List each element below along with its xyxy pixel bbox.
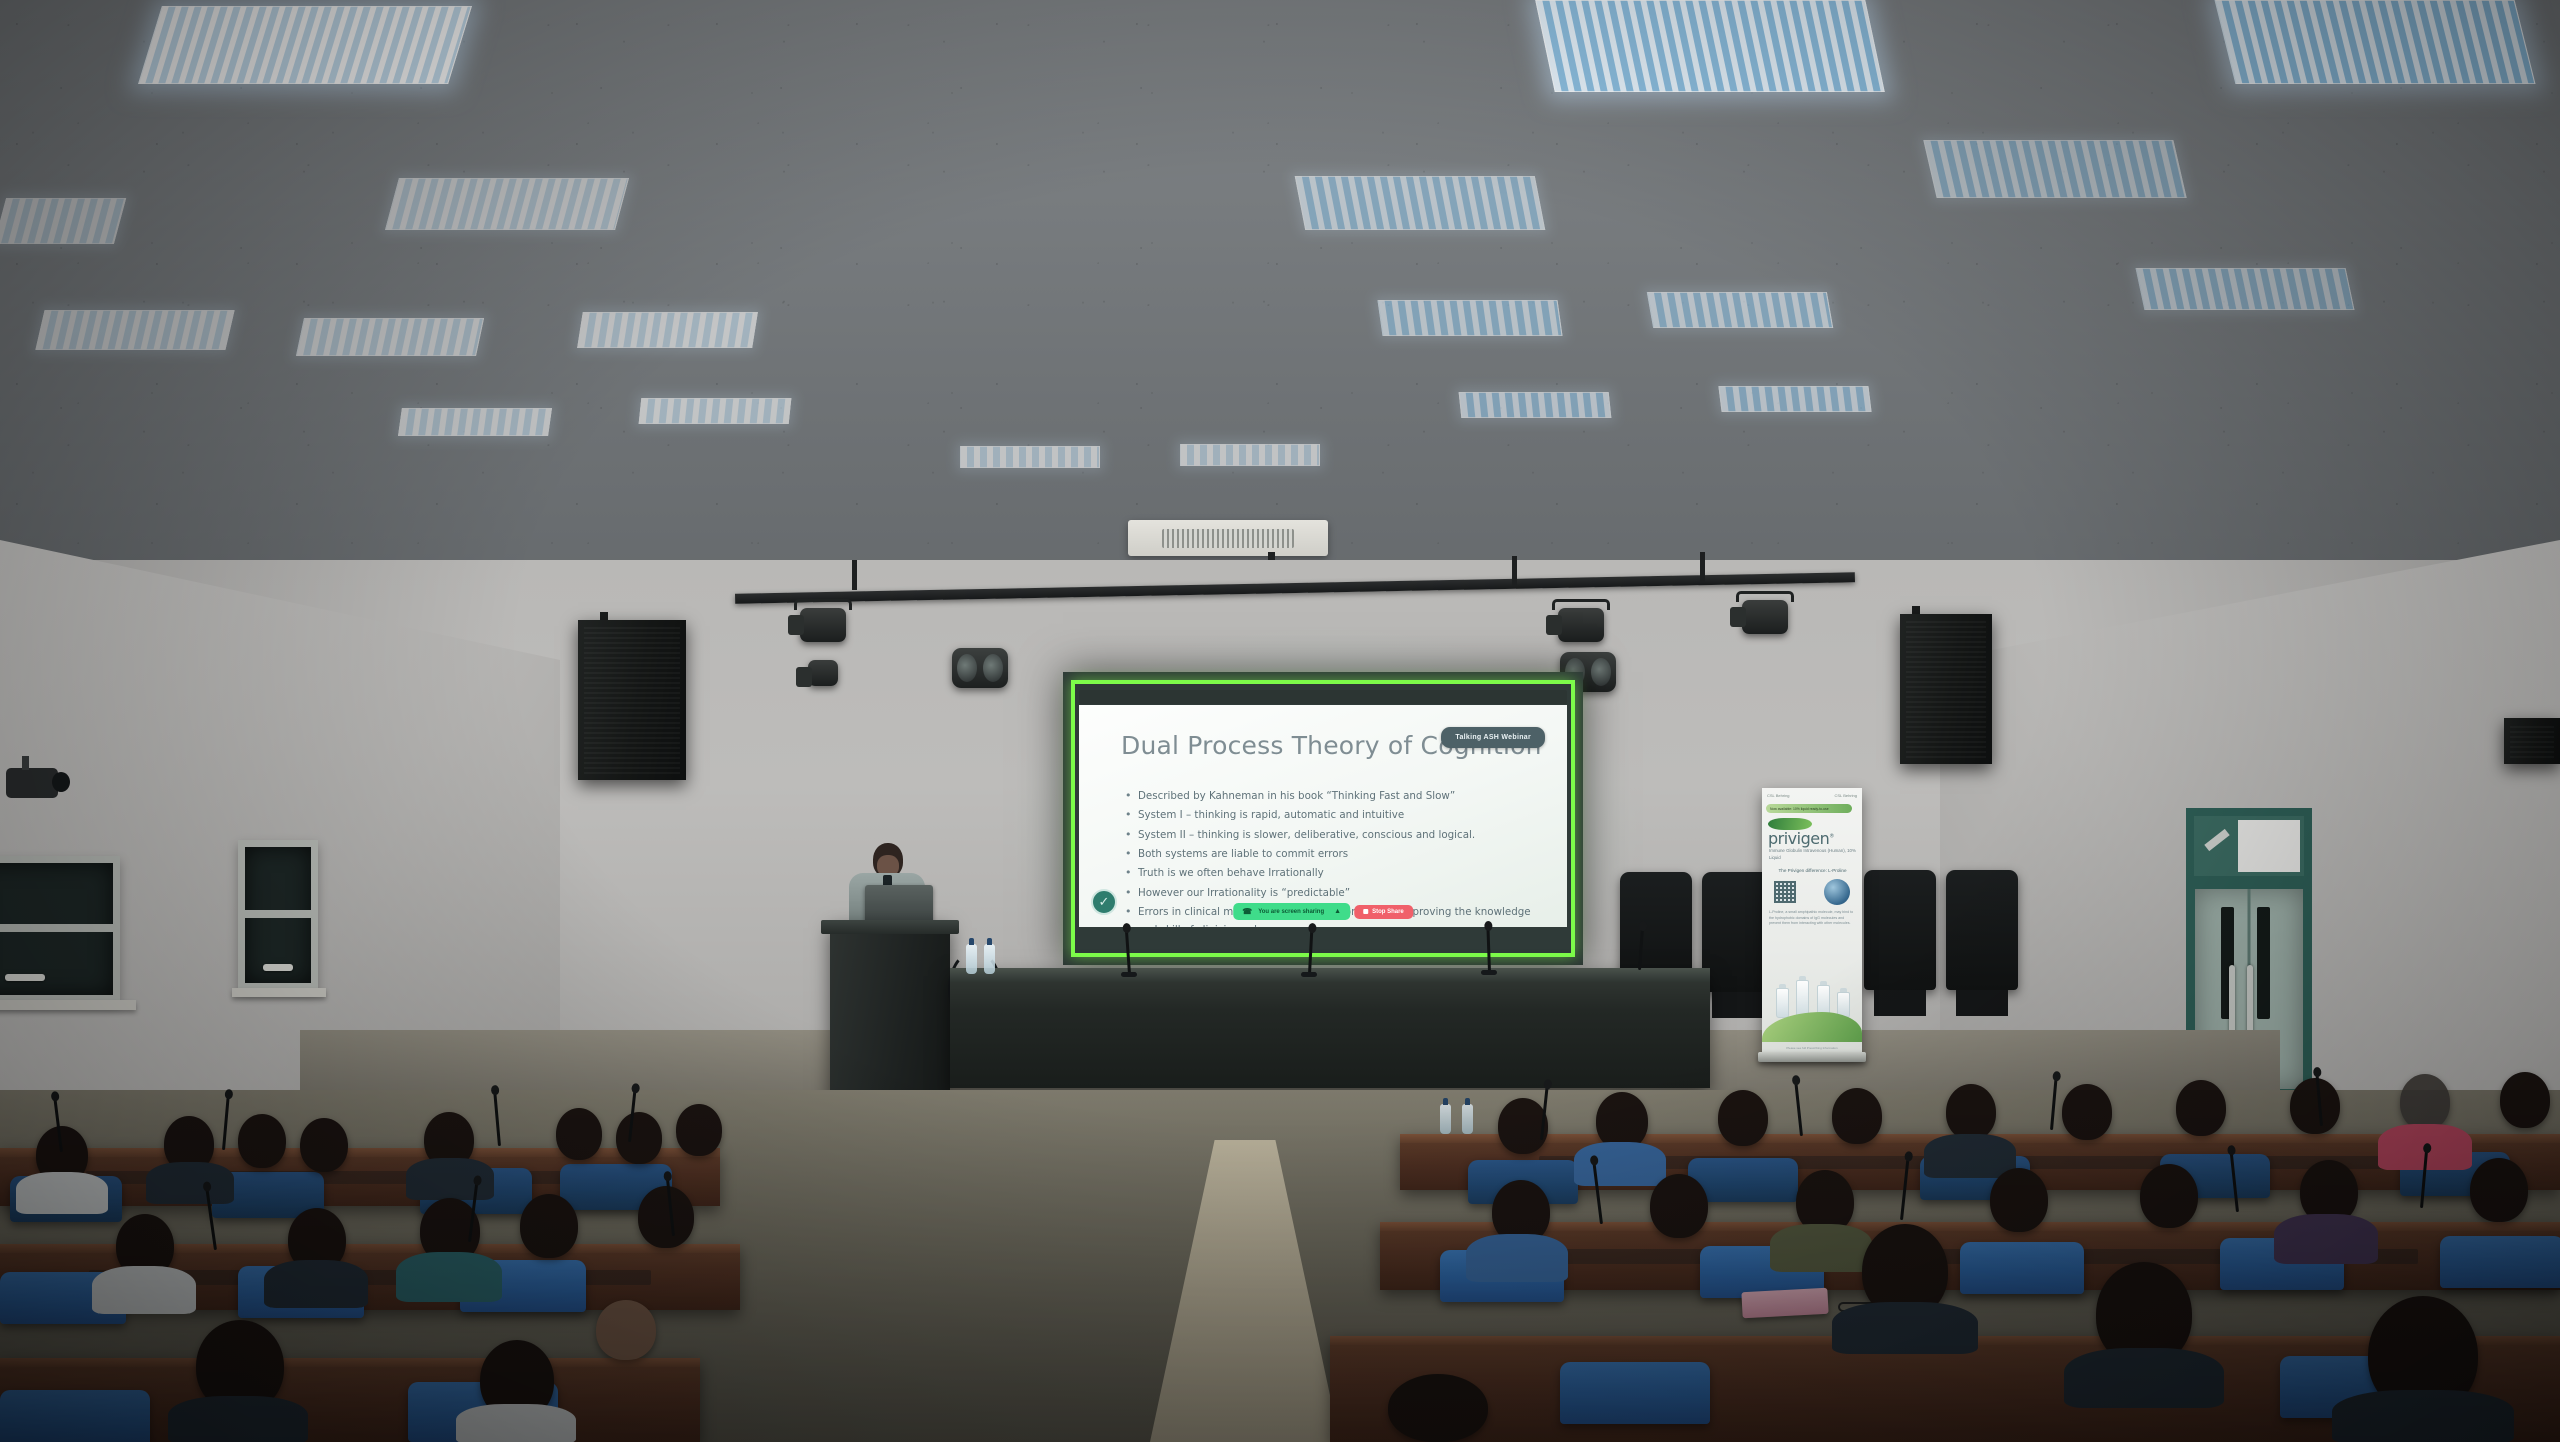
- ceiling-light: [1377, 300, 1562, 336]
- audience-shoulders: [92, 1266, 196, 1314]
- slide-bullet: Described by Kahneman in his book “Think…: [1125, 787, 1533, 805]
- water-bottle: [1440, 1104, 1451, 1134]
- audience-shoulders: [1924, 1134, 2016, 1178]
- banner-body-text: L-Proline, a small amphipathic molecule,…: [1769, 910, 1856, 927]
- window-handle[interactable]: [263, 964, 293, 971]
- audience-shoulders: [264, 1260, 368, 1308]
- ceiling-light: [1180, 444, 1320, 466]
- pink-folder: [1741, 1288, 1828, 1318]
- ceiling-light: [35, 310, 234, 350]
- audience-shoulders: [1466, 1234, 1568, 1282]
- truss-drop-rod: [1700, 552, 1705, 582]
- audience-head: [238, 1114, 286, 1168]
- ceiling-light: [639, 398, 792, 424]
- audience-head: [1946, 1084, 1996, 1140]
- door-vision-slit: [2257, 907, 2270, 1019]
- ceiling-light: [1923, 140, 2186, 198]
- audience-chair: [1560, 1362, 1710, 1424]
- audience-head: [2062, 1084, 2112, 1140]
- transom-pane: [2238, 820, 2300, 872]
- stage-spotlight: [1742, 600, 1788, 634]
- ceiling-light: [1535, 0, 1885, 92]
- slide-bullet: Truth is we often behave Irrationally: [1125, 864, 1533, 882]
- screen-top-bar: [1079, 690, 1567, 704]
- ceiling-light: [0, 198, 126, 244]
- head-table-top: [950, 968, 1710, 982]
- par-lens-icon: [1591, 658, 1611, 686]
- audience-head: [1990, 1168, 2048, 1232]
- audience-head: [2290, 1078, 2340, 1134]
- microphone-base: [1301, 972, 1317, 977]
- product-vial-group: [1772, 970, 1854, 1018]
- audience-chair: [2440, 1236, 2560, 1288]
- ceiling-light: [2136, 268, 2355, 310]
- molecule-sphere-icon: [1824, 879, 1850, 905]
- stop-square-icon: [1363, 909, 1368, 914]
- ceiling-light: [1718, 386, 1871, 412]
- ceiling-light: [296, 318, 484, 356]
- audience-head: [616, 1112, 662, 1164]
- slide-bullet: However our Irrationality is “predictabl…: [1125, 884, 1533, 902]
- sharing-status-button[interactable]: ☎ You are screen sharing ▲: [1233, 903, 1350, 920]
- ceiling-light: [1459, 392, 1612, 418]
- water-bottle: [1462, 1104, 1473, 1134]
- banner-header-right: CSL Behring: [1834, 793, 1857, 798]
- audience-shoulders: [2332, 1390, 2514, 1442]
- stage-spotlight: [800, 608, 846, 642]
- desk-top: [0, 1244, 740, 1253]
- spotlight-yoke: [794, 599, 852, 610]
- audience-head: [676, 1104, 722, 1156]
- ceiling-light: [1295, 176, 1545, 230]
- screen-share-toolbar[interactable]: ☎ You are screen sharing ▲ Stop Share: [1233, 903, 1413, 920]
- audience-shoulders: [456, 1404, 576, 1442]
- circular-logo-icon: ✓: [1091, 889, 1117, 915]
- ceiling-light: [138, 6, 472, 84]
- audience-shoulders: [1770, 1224, 1872, 1272]
- spotlight-yoke: [1736, 591, 1794, 602]
- window: [0, 856, 120, 1002]
- par-lens-icon: [957, 654, 977, 682]
- webinar-badge: Talking ASH Webinar: [1441, 727, 1545, 748]
- window-sill: [0, 1000, 136, 1010]
- ceiling-light: [1647, 292, 1833, 328]
- banner-header-left: CSL Behring: [1767, 793, 1790, 798]
- audience-head: [596, 1300, 656, 1360]
- lecture-hall-photo: Dual Process Theory of Cognition Talking…: [0, 0, 2560, 1442]
- product-vial: [1776, 988, 1789, 1018]
- stage-chair: [1946, 870, 2018, 990]
- pa-speaker-left: [578, 620, 686, 780]
- pa-speaker-right: [1900, 614, 1992, 764]
- truss-drop-rod: [852, 560, 857, 590]
- audience-shoulders: [16, 1172, 108, 1214]
- banner-brand-name: privigen®: [1768, 829, 1834, 848]
- transom-latch-icon[interactable]: [2204, 829, 2229, 851]
- ceiling-light: [2215, 0, 2536, 84]
- pa-speaker-far-right: [2504, 718, 2560, 764]
- audience-head: [556, 1108, 602, 1160]
- lectern-top: [821, 920, 959, 934]
- sponsor-banner: CSL Behring CSL Behring Now available: 1…: [1762, 788, 1862, 1056]
- chevron-up-icon[interactable]: ▲: [1334, 908, 1341, 915]
- desk-top: [1380, 1222, 2560, 1231]
- window-sill: [232, 988, 326, 997]
- ceiling-light: [398, 408, 552, 436]
- stage-spotlight: [1558, 608, 1604, 642]
- ceiling-light: [385, 178, 629, 230]
- window: [238, 840, 318, 990]
- water-bottle: [984, 944, 995, 974]
- audience-head: [2500, 1072, 2550, 1128]
- stage-chair: [1864, 870, 1936, 990]
- audience-shoulders: [2274, 1214, 2378, 1264]
- ceiling-light: [577, 312, 758, 348]
- par-can-light: [952, 648, 1008, 688]
- audience-shoulders: [1574, 1142, 1666, 1186]
- audience-head: [1650, 1174, 1708, 1238]
- phone-icon: ☎: [1242, 907, 1252, 916]
- truss-drop-rod: [1512, 556, 1517, 586]
- banner-header: CSL Behring CSL Behring: [1762, 788, 1862, 802]
- ceiling-ac-cassette: [1128, 520, 1328, 556]
- projection-screen: Dual Process Theory of Cognition Talking…: [1063, 672, 1583, 965]
- window-handle[interactable]: [5, 974, 45, 981]
- head-table: [950, 968, 1710, 1088]
- audience-shoulders: [168, 1396, 308, 1442]
- microphone-base: [1121, 972, 1137, 977]
- banner-subtitle: Immune Globulin Intravenous (Human), 10%…: [1769, 848, 1856, 861]
- stop-share-label: Stop Share: [1372, 909, 1404, 915]
- security-camera-icon: [6, 768, 58, 798]
- slide-bullet: System I – thinking is rapid, automatic …: [1125, 806, 1533, 824]
- slide-bullet: Both systems are liable to commit errors: [1125, 845, 1533, 863]
- sharing-status-label: You are screen sharing: [1258, 909, 1324, 915]
- qr-code-icon: [1774, 881, 1796, 903]
- audience-head: [2400, 1074, 2450, 1130]
- presentation-slide: Dual Process Theory of Cognition Talking…: [1079, 705, 1567, 927]
- audience-chair: [1960, 1242, 2084, 1294]
- door-transom-window: [2186, 808, 2312, 884]
- desk-top: [0, 1358, 700, 1367]
- audience-chair: [0, 1390, 150, 1442]
- audience-head: [2470, 1158, 2528, 1222]
- microphone-base: [1481, 970, 1497, 975]
- banner-stand-base: [1758, 1052, 1866, 1062]
- audience-shoulders: [396, 1252, 502, 1302]
- audience-shoulders: [2064, 1348, 2224, 1408]
- audience-shoulders: [146, 1162, 234, 1204]
- par-lens-icon: [983, 654, 1003, 682]
- ac-grille-icon: [1162, 529, 1294, 548]
- banner-availability-pill: Now available: 10% liquid ready-to-use: [1766, 804, 1852, 813]
- banner-tagline: The Privigen difference: L-Proline: [1769, 868, 1856, 873]
- audience-head: [2140, 1164, 2198, 1228]
- ceiling-light: [960, 446, 1100, 468]
- audience-head: [520, 1194, 578, 1258]
- slide-bullet: System II – thinking is slower, delibera…: [1125, 826, 1533, 844]
- water-bottle: [966, 944, 977, 974]
- audience-shoulders: [1832, 1302, 1978, 1354]
- audience-head: [300, 1118, 348, 1172]
- audience-head: [1718, 1090, 1768, 1146]
- stop-share-button[interactable]: Stop Share: [1354, 905, 1413, 919]
- audience-head: [638, 1186, 694, 1248]
- ceiling: [0, 0, 2560, 640]
- audience-head: [1832, 1088, 1882, 1144]
- stage-spotlight: [808, 660, 838, 686]
- desk-top: [0, 1148, 720, 1157]
- audience-head: [2176, 1080, 2226, 1136]
- audience-head: [1388, 1374, 1488, 1442]
- spotlight-yoke: [1552, 599, 1610, 610]
